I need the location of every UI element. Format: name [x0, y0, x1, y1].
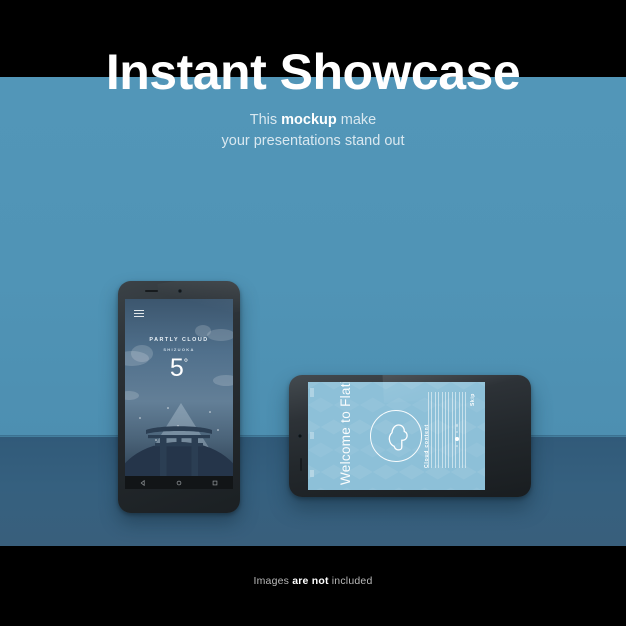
temperature-value: 5 — [170, 354, 184, 382]
footer-post: included — [329, 575, 373, 587]
footer-note: Images are not included — [0, 575, 626, 587]
subtitle-line-1-pre: This — [250, 112, 281, 128]
earpiece-speaker — [145, 290, 158, 292]
subtitle-line-1-post: make — [337, 112, 377, 128]
welcome-title: Welcome to Flatic — [338, 382, 353, 485]
headline-block: Instant Showcase This mockup make your p… — [0, 46, 626, 153]
cloud-outline-icon — [387, 423, 409, 451]
subtitle-line-1-bold: mockup — [281, 112, 337, 128]
torii-gate-icon — [144, 424, 214, 476]
pagination-dot-active[interactable] — [455, 437, 458, 440]
pagination-dot[interactable] — [456, 424, 459, 427]
front-camera-icon — [298, 434, 302, 438]
phone-horizontal[interactable]: Welcome to Flatic Cloud content Skip — [289, 375, 531, 497]
recents-square-icon[interactable] — [212, 480, 218, 486]
home-circle-icon[interactable] — [176, 480, 182, 486]
back-triangle-icon[interactable] — [140, 480, 146, 486]
onboarding-app-screen[interactable]: Welcome to Flatic Cloud content Skip — [308, 382, 485, 490]
page-title: Instant Showcase — [0, 46, 626, 99]
weather-temperature: 5° — [125, 356, 233, 381]
footer-pre: Images — [253, 575, 292, 587]
phone-vertical[interactable]: PARTLY CLOUD SHIZUOKA 5° — [118, 281, 240, 513]
mockup-canvas: Instant Showcase This mockup make your p… — [0, 0, 626, 626]
pagination-dots[interactable] — [454, 424, 460, 451]
footer-bold: are not — [292, 575, 328, 587]
pagination-dot[interactable] — [456, 431, 459, 434]
weather-app-screen[interactable]: PARTLY CLOUD SHIZUOKA 5° — [125, 299, 233, 476]
front-camera-icon — [178, 289, 182, 293]
status-bar — [308, 382, 316, 490]
earpiece-speaker — [300, 458, 302, 471]
degree-symbol: ° — [184, 358, 188, 370]
cloud-icon-circle — [370, 410, 422, 462]
weather-city: SHIZUOKA — [125, 347, 233, 352]
weather-condition: PARTLY CLOUD — [125, 337, 233, 343]
android-navigation-bar[interactable] — [125, 476, 233, 489]
subtitle-line-1: This mockup make — [0, 110, 626, 132]
page-subtitle: This mockup make your presentations stan… — [0, 110, 626, 154]
body-text-lines — [429, 392, 471, 480]
pagination-dot[interactable] — [456, 445, 459, 448]
subtitle-line-2: your presentations stand out — [0, 131, 626, 153]
hamburger-icon[interactable] — [134, 310, 144, 317]
